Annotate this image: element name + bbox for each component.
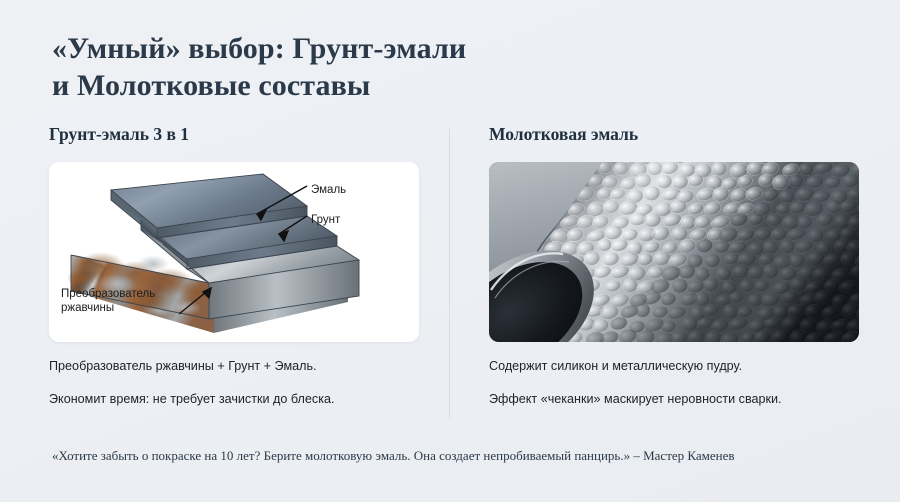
column-left: Грунт-эмаль 3 в 1 [49, 124, 421, 424]
diagram-label-rust-converter: Преобразователь ржавчины [61, 287, 211, 315]
footer-quote: «Хотите забыть о покраске на 10 лет? Бер… [52, 448, 872, 464]
right-bullet-2: Эффект «чеканки» маскирует неровности св… [489, 391, 861, 407]
page-title-line-1: «Умный» выбор: Грунт-эмали [52, 30, 752, 67]
hammered-finish-photo-panel [489, 162, 859, 342]
column-right-heading: Молотковая эмаль [489, 124, 861, 145]
left-bullet-2: Экономит время: не требует зачистки до б… [49, 391, 421, 407]
isometric-layer-diagram [49, 162, 419, 342]
right-bullets: Содержит силикон и металлическую пудру. … [489, 358, 861, 407]
page-title-line-2: и Молотковые составы [52, 67, 752, 104]
column-right: Молотковая эмаль [489, 124, 861, 424]
hammered-metal-photo [489, 162, 859, 342]
column-divider [449, 128, 450, 418]
right-bullet-1: Содержит силикон и металлическую пудру. [489, 358, 861, 374]
layer-diagram-panel: Эмаль Грунт Преобразователь ржавчины [49, 162, 419, 342]
column-left-heading: Грунт-эмаль 3 в 1 [49, 124, 421, 145]
page-title: «Умный» выбор: Грунт-эмали и Молотковые … [52, 30, 752, 104]
diagram-label-enamel: Эмаль [311, 183, 346, 197]
slide-root: «Умный» выбор: Грунт-эмали и Молотковые … [0, 0, 900, 502]
left-bullet-1: Преобразователь ржавчины + Грунт + Эмаль… [49, 358, 421, 374]
diagram-label-primer: Грунт [311, 213, 340, 227]
left-bullets: Преобразователь ржавчины + Грунт + Эмаль… [49, 358, 421, 407]
